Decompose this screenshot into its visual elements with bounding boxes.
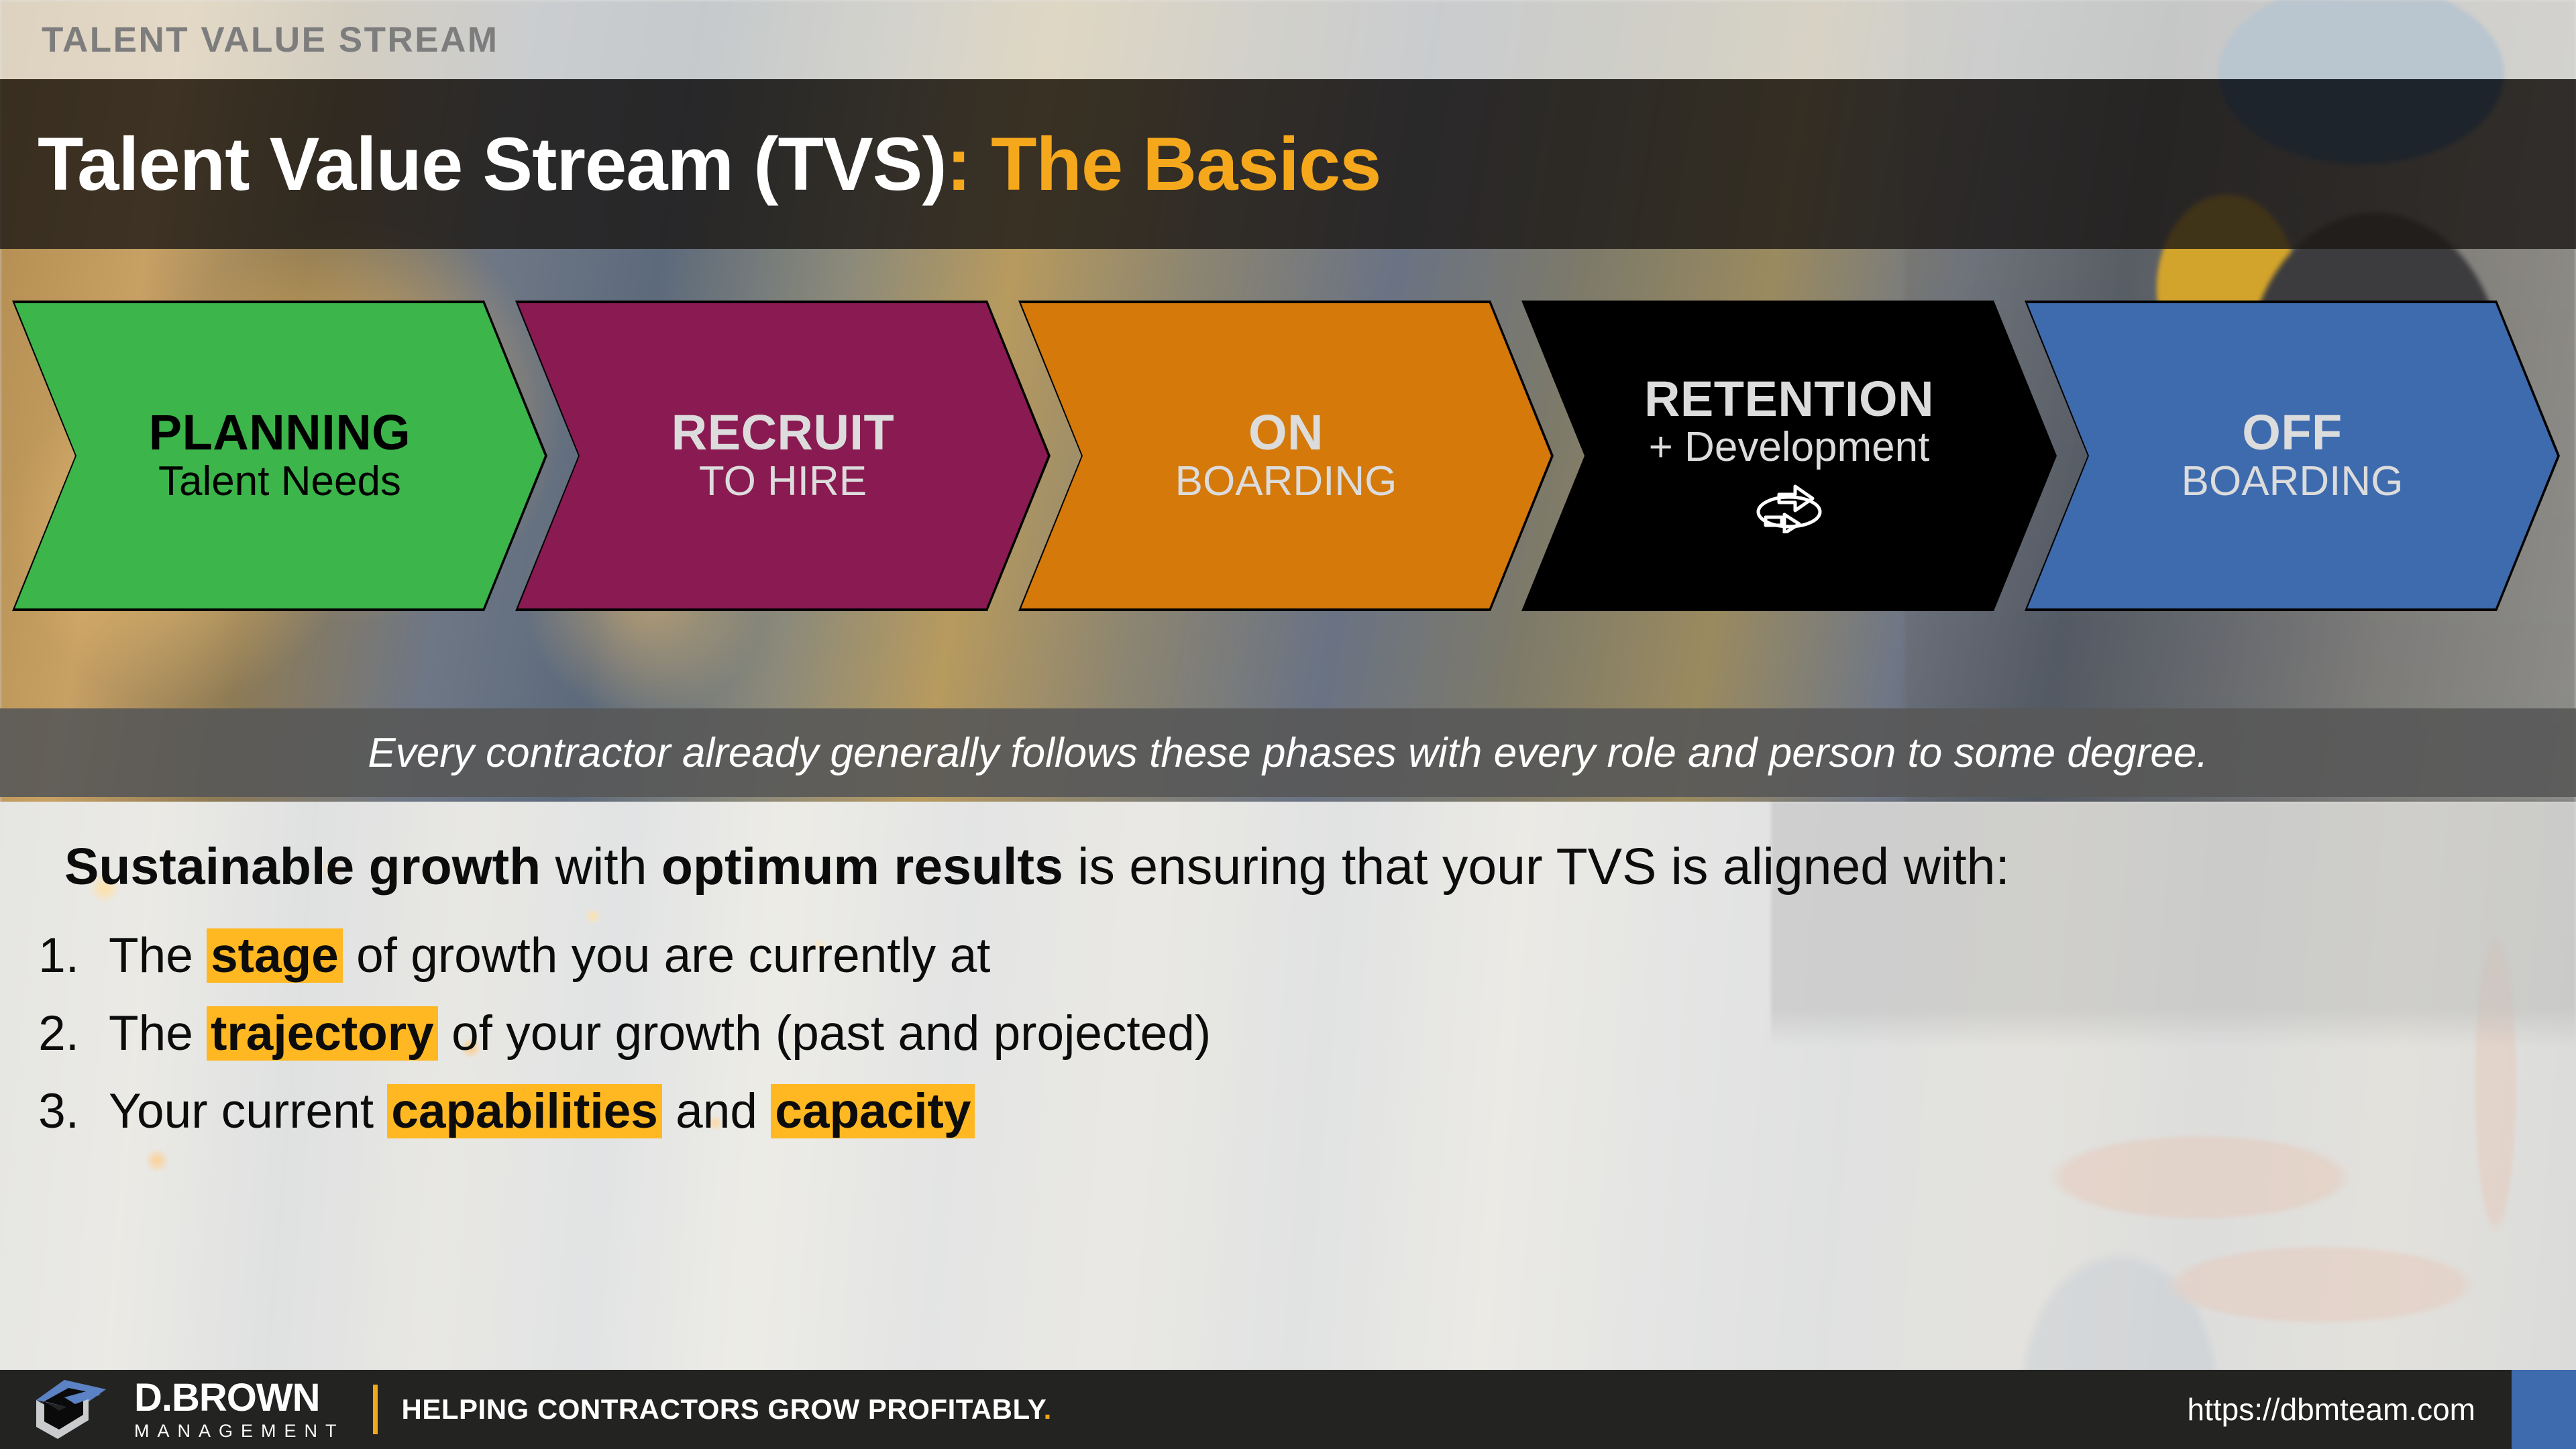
highlighted-term: trajectory	[207, 1006, 438, 1061]
body-content: Sustainable growth with optimum results …	[0, 839, 2576, 1163]
page-title-accent: : The Basics	[947, 122, 1381, 206]
footer-tagline-text: HELPING CONTRACTORS GROW PROFITABLY	[402, 1393, 1044, 1425]
phase-subtitle: BOARDING	[2182, 460, 2404, 503]
list-text-segment: of your growth (past and projected)	[438, 1006, 1211, 1061]
list-item-number: 3.	[0, 1085, 79, 1138]
list-text-segment: The	[109, 928, 207, 983]
highlighted-term: capacity	[771, 1084, 975, 1138]
footer-bar: D.BROWN MANAGEMENT HELPING CONTRACTORS G…	[0, 1370, 2576, 1449]
phase-title: PLANNING	[149, 409, 411, 458]
list-item: 3.Your current capabilities and capacity	[0, 1085, 2576, 1138]
highlighted-term: capabilities	[387, 1084, 662, 1138]
list-text-segment: of growth you are currently at	[343, 928, 991, 983]
list-item-number: 2.	[0, 1007, 79, 1061]
lede-segment-3: optimum results	[661, 838, 1063, 896]
list-item-text: The trajectory of your growth (past and …	[109, 1007, 1211, 1061]
list-item-text: Your current capabilities and capacity	[109, 1085, 975, 1138]
list-text-segment: The	[109, 1006, 207, 1061]
title-band: Talent Value Stream (TVS): The Basics	[0, 79, 2576, 249]
brand-name: D.BROWN	[134, 1379, 345, 1417]
phase-subtitle: TO HIRE	[699, 460, 867, 503]
caption-bar: Every contractor already generally follo…	[0, 708, 2576, 797]
phase-subtitle: + Development	[1649, 426, 1930, 469]
phase-subtitle: BOARDING	[1175, 460, 1397, 503]
list-item-number: 1.	[0, 929, 79, 983]
phase-chevron-off[interactable]: OFFBOARDING	[2027, 303, 2557, 608]
footer-blue-block	[2512, 1370, 2576, 1449]
alignment-list: 1.The stage of growth you are currently …	[0, 929, 2576, 1139]
caption-text: Every contractor already generally follo…	[368, 729, 2208, 777]
phase-title: OFF	[2242, 409, 2342, 458]
process-chevron-strip: PLANNINGTalent NeedsRECRUITTO HIREONBOAR…	[0, 288, 2576, 641]
lede-paragraph: Sustainable growth with optimum results …	[64, 839, 2576, 896]
footer-tagline-dot: .	[1044, 1393, 1052, 1425]
highlighted-term: stage	[207, 928, 343, 983]
lede-segment-2: with	[541, 838, 661, 896]
phase-title: ON	[1248, 409, 1324, 458]
phase-title: RECRUIT	[672, 409, 894, 458]
phase-title: RETENTION	[1644, 375, 1934, 424]
lede-segment-4: is ensuring that your TVS is aligned wit…	[1063, 838, 2010, 896]
list-item: 2.The trajectory of your growth (past an…	[0, 1007, 2576, 1061]
brand-wordmark: D.BROWN MANAGEMENT	[134, 1379, 345, 1440]
phase-chevron-on[interactable]: ONBOARDING	[1021, 303, 1551, 608]
eyebrow-label: TALENT VALUE STREAM	[42, 19, 499, 60]
list-item: 1.The stage of growth you are currently …	[0, 929, 2576, 983]
page-title: Talent Value Stream (TVS): The Basics	[38, 121, 1381, 207]
eyebrow-band: TALENT VALUE STREAM	[0, 0, 2576, 79]
list-text-segment: and	[662, 1084, 771, 1138]
lede-segment-1: Sustainable growth	[64, 838, 541, 896]
phase-chevron-planning[interactable]: PLANNINGTalent Needs	[15, 303, 545, 608]
cycle-arrows-icon	[1750, 477, 1829, 537]
phase-chevron-recruit[interactable]: RECRUITTO HIRE	[518, 303, 1048, 608]
page-title-main: Talent Value Stream (TVS)	[38, 122, 947, 206]
brand-subtitle: MANAGEMENT	[134, 1422, 345, 1440]
phase-subtitle: Talent Needs	[158, 460, 401, 503]
slide-canvas: TALENT VALUE STREAM Talent Value Stream …	[0, 0, 2576, 1449]
footer-divider	[373, 1385, 378, 1434]
dbrown-logo-icon	[31, 1377, 117, 1442]
footer-url[interactable]: https://dbmteam.com	[2188, 1391, 2476, 1428]
list-item-text: The stage of growth you are currently at	[109, 929, 990, 983]
list-text-segment: Your current	[109, 1084, 387, 1138]
footer-tagline: HELPING CONTRACTORS GROW PROFITABLY.	[402, 1393, 1052, 1426]
phase-chevron-retention[interactable]: RETENTION+ Development	[1524, 303, 2054, 608]
